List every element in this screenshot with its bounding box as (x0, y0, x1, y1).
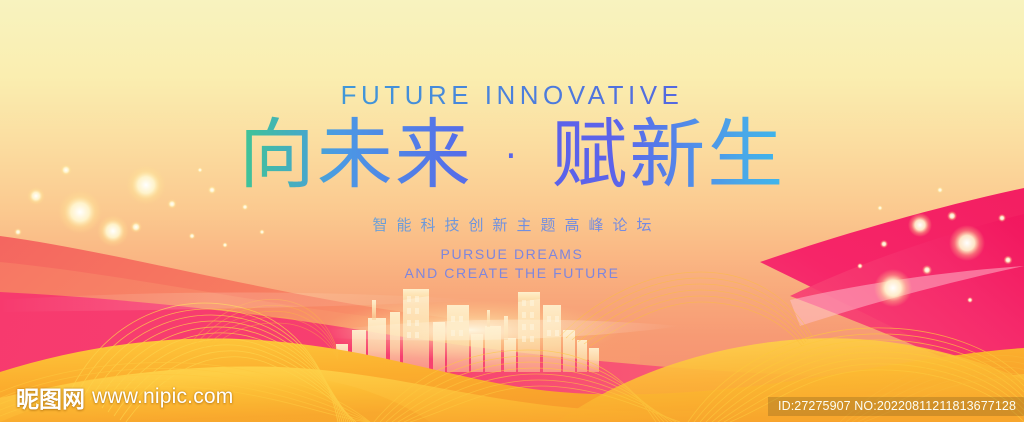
english-subtitle-line-1: PURSUE DREAMS (0, 246, 1024, 262)
chinese-subtitle: 智能科技创新主题高峰论坛 (0, 214, 1024, 235)
eyebrow-text: FUTURE INNOVATIVE (0, 80, 1024, 111)
image-id-badge: ID:27275907 NO:20220811211813677128 (768, 397, 1024, 416)
background-landscape (0, 0, 1024, 422)
poster-canvas: FUTURE INNOVATIVE 向未来 · 赋新生 智能科技创新主题高峰论坛… (0, 0, 1024, 422)
english-subtitle-line-2: AND CREATE THE FUTURE (0, 265, 1024, 281)
page-title: 向未来 · 赋新生 (0, 112, 1024, 198)
